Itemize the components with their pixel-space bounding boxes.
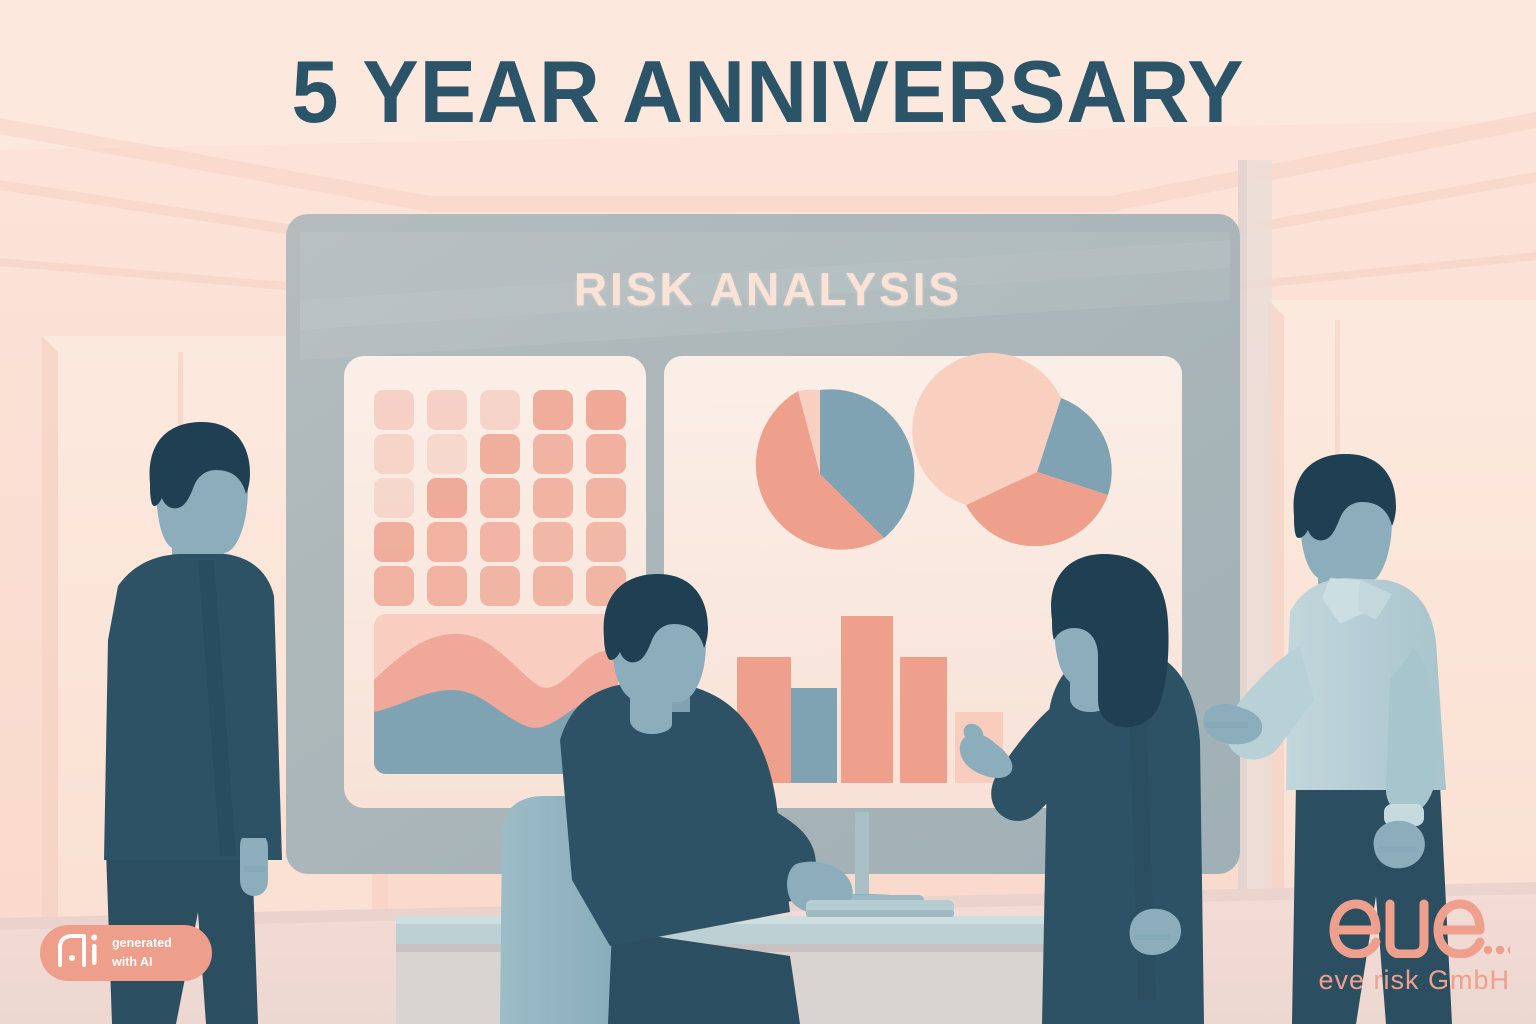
logo-wordmark-eve xyxy=(1318,886,1510,963)
illustration-canvas: 5 YEAR ANNIVERSARY RISK ANALYSIS generat… xyxy=(0,0,1536,1024)
ai-generated-badge: generated with AI xyxy=(40,925,212,981)
ai-badge-text: generated with AI xyxy=(112,934,172,973)
ai-badge-line2: with AI xyxy=(112,955,153,969)
page-title: 5 YEAR ANNIVERSARY xyxy=(31,48,1506,136)
standing-woman-right xyxy=(960,554,1204,1024)
ai-sparkle-icon xyxy=(56,933,102,974)
logo-tagline: eve risk GmbH xyxy=(1318,965,1510,996)
brand-logo: eve risk GmbH xyxy=(1318,886,1510,996)
people-figures xyxy=(0,0,1536,1024)
seated-man-center xyxy=(500,574,954,1024)
ai-badge-line1: generated xyxy=(112,936,172,950)
screen-heading: RISK ANALYSIS xyxy=(0,262,1536,316)
